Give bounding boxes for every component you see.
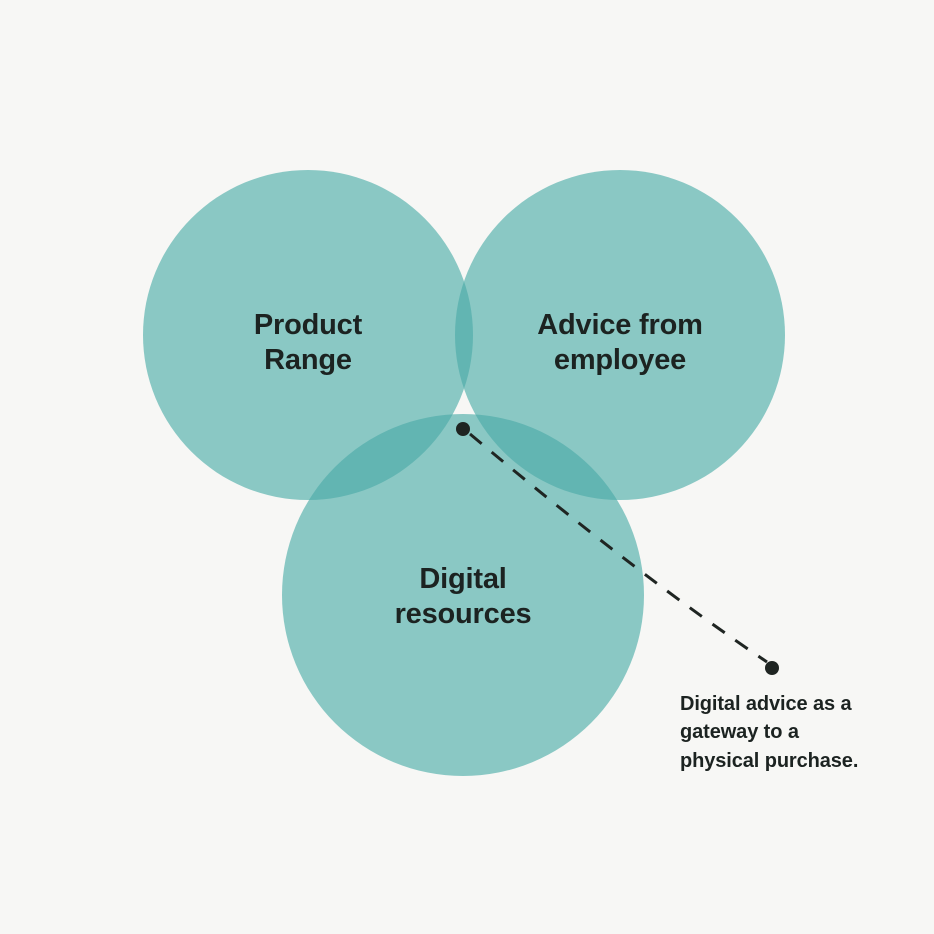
annotation-end-dot [765, 661, 779, 675]
annotation-anchor-dot [456, 422, 470, 436]
venn-diagram-graphic [0, 0, 934, 934]
annotation-caption: Digital advice as a gateway to a physica… [680, 690, 905, 775]
venn-diagram-canvas: Product Range Advice from employee Digit… [0, 0, 934, 934]
